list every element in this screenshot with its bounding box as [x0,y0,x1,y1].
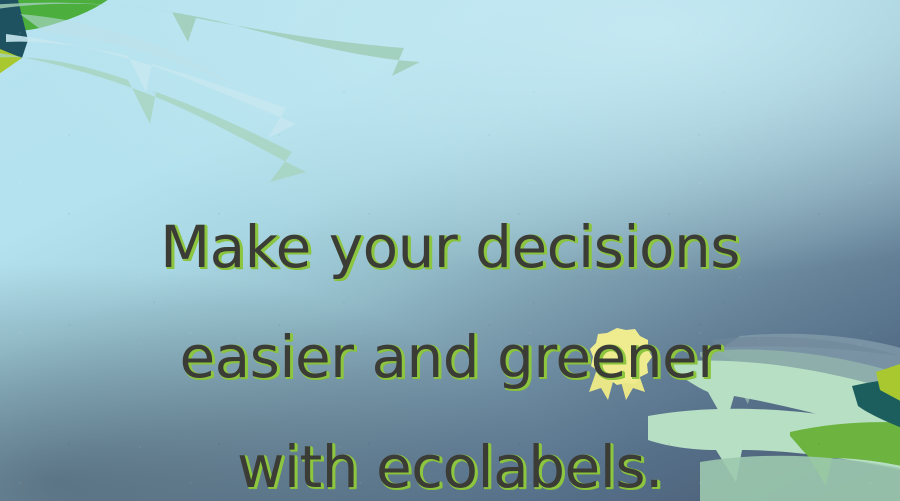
headline-line-1: Make your decisions [0,219,900,275]
leaf-faint-wide-topleft [20,14,240,88]
headline-line-3: with ecolabels. [0,439,900,495]
leaf-mint-large-topleft [0,3,420,76]
page-title: Make your decisions easier and greener w… [0,163,900,501]
leaf-palecyan-topleft [6,34,296,138]
slide-canvas: Make your decisions easier and greener w… [0,0,900,501]
leaf-yellowgreen-triangle-topleft [0,44,22,76]
leaf-cluster-top-left [0,0,420,182]
leaf-green-arc-topleft [0,0,120,32]
leaf-darkteal-wedge-topleft [0,0,28,58]
headline-line-2: easier and greener [0,329,900,385]
